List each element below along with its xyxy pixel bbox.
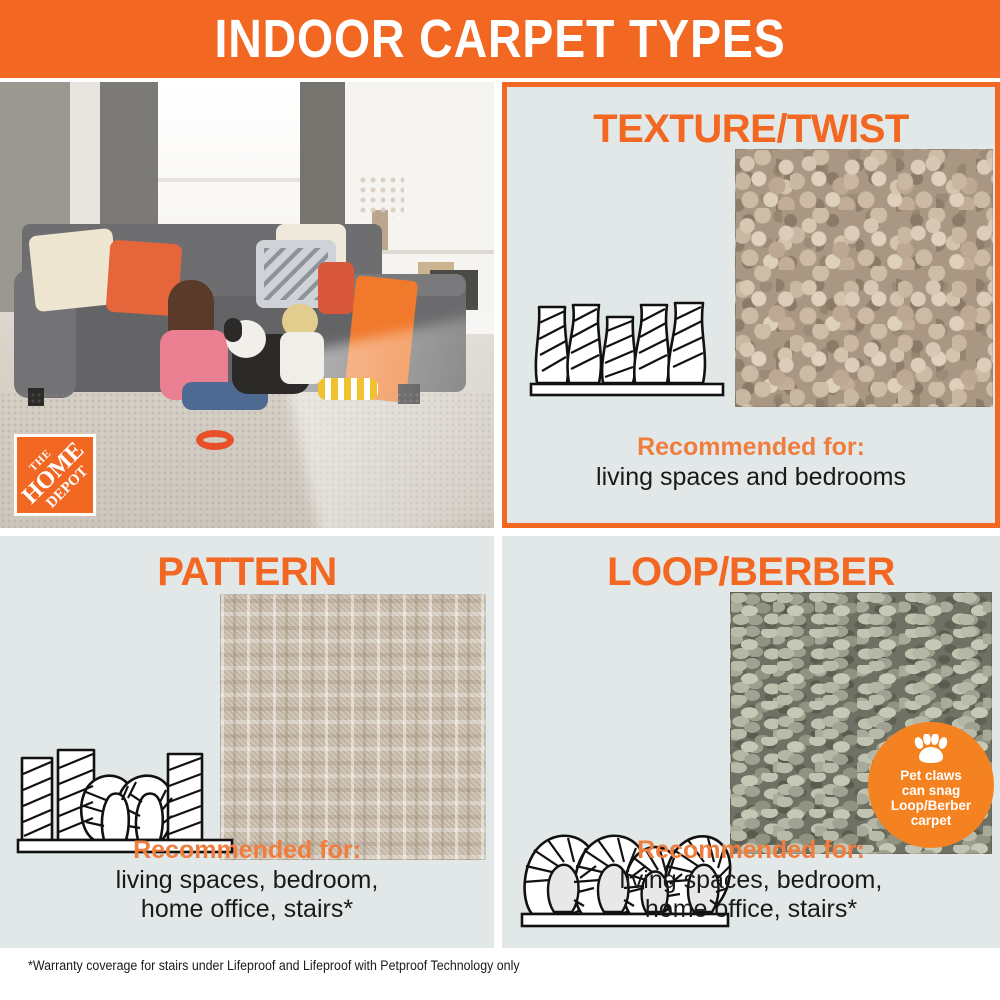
pet-badge-line-4: carpet bbox=[891, 813, 971, 828]
photo-child-striped-socks bbox=[318, 378, 378, 400]
pattern-recommended-line-1: living spaces, bedroom, bbox=[0, 866, 494, 896]
pet-badge-line-3: Loop/Berber bbox=[891, 798, 971, 813]
loop-berber-title: LOOP/BERBER bbox=[502, 552, 1000, 592]
photo-orange-dog-toy bbox=[196, 430, 234, 450]
panel-grid: THE HOME DEPOT TEXTURE/TWIST bbox=[0, 82, 1000, 948]
paw-icon bbox=[911, 734, 951, 764]
pattern-recommended-label: Recommended for: bbox=[0, 836, 494, 866]
pet-badge-text: Pet claws can snag Loop/Berber carpet bbox=[891, 768, 971, 828]
panel-living-room-photo: THE HOME DEPOT bbox=[0, 82, 494, 528]
photo-child-body bbox=[280, 332, 324, 384]
photo-window-bar bbox=[158, 178, 300, 182]
loop-berber-recommended-line-1: living spaces, bedroom, bbox=[502, 866, 1000, 896]
texture-twist-recommended-line-1: living spaces and bedrooms bbox=[507, 463, 995, 493]
page-title: INDOOR CARPET TYPES bbox=[214, 12, 785, 66]
texture-twist-fiber-diagram bbox=[529, 283, 729, 401]
texture-twist-recommended-label: Recommended for: bbox=[507, 433, 995, 463]
photo-pillow-red bbox=[318, 262, 354, 314]
panel-texture-twist: TEXTURE/TWIST Recommended for: living sp bbox=[502, 82, 1000, 528]
warranty-footnote: *Warranty coverage for stairs under Life… bbox=[28, 958, 520, 973]
loop-berber-recommended-line-2: home office, stairs* bbox=[502, 895, 1000, 925]
texture-twist-recommendation: Recommended for: living spaces and bedro… bbox=[507, 433, 995, 492]
header-banner: INDOOR CARPET TYPES bbox=[0, 0, 1000, 78]
pet-claws-warning-badge: Pet claws can snag Loop/Berber carpet bbox=[868, 722, 994, 848]
texture-twist-swatch-image bbox=[735, 149, 993, 407]
pattern-title: PATTERN bbox=[0, 552, 494, 592]
home-depot-logo: THE HOME DEPOT bbox=[14, 434, 96, 516]
pet-badge-line-1: Pet claws bbox=[891, 768, 971, 783]
home-depot-logo-text: THE HOME DEPOT bbox=[14, 434, 96, 516]
pattern-recommended-line-2: home office, stairs* bbox=[0, 895, 494, 925]
panel-loop-berber: LOOP/BERBER bbox=[502, 536, 1000, 948]
pattern-swatch-image bbox=[220, 594, 486, 860]
loop-berber-recommendation: Recommended for: living spaces, bedroom,… bbox=[502, 836, 1000, 925]
panel-pattern: PATTERN Re bbox=[0, 536, 494, 948]
photo-branch-decor bbox=[358, 174, 404, 218]
pet-badge-line-2: can snag bbox=[891, 783, 971, 798]
photo-dog-ear bbox=[224, 318, 242, 342]
pattern-recommendation: Recommended for: living spaces, bedroom,… bbox=[0, 836, 494, 925]
texture-twist-title: TEXTURE/TWIST bbox=[507, 109, 995, 149]
